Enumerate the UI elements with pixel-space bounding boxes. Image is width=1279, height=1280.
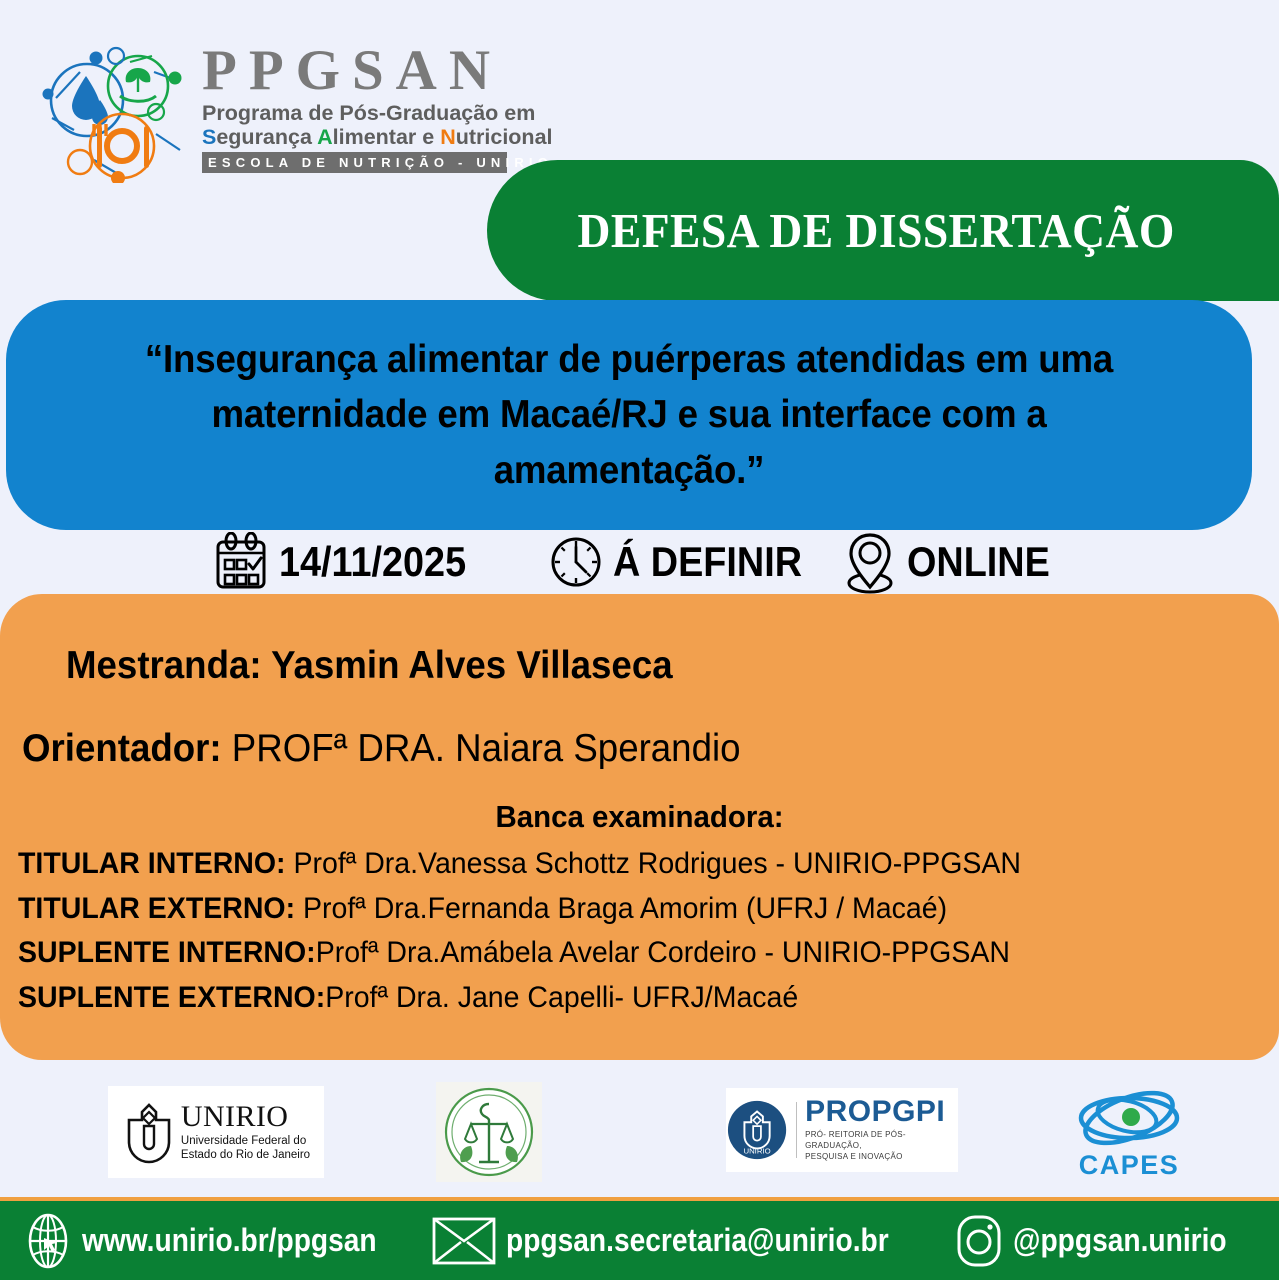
propgpi-logo-text: PROPGPI PRÓ- REITORIA DE PÓS-GRADUAÇÃO, … [805, 1097, 958, 1162]
clock-icon [549, 534, 603, 590]
propgpi-name: PROPGPI [805, 1097, 958, 1127]
logo-letter-s: S [202, 125, 216, 149]
unirio-subtitle-1: Universidade Federal do [181, 1135, 310, 1149]
unirio-name: UNIRIO [181, 1102, 310, 1132]
ppgsan-logo-graphic [34, 38, 194, 183]
event-place-text: ONLINE [907, 538, 1050, 586]
banca-name: Profª Dra.Amábela Avelar Cordeiro - UNIR… [316, 936, 1010, 969]
footer-instagram[interactable]: @ppgsan.unirio [954, 1213, 1256, 1269]
banca-role: TITULAR INTERNO: [18, 847, 286, 880]
mestranda-name: Yasmin Alves Villaseca [271, 644, 673, 687]
propgpi-logo: UNIRIO PROPGPI PRÓ- REITORIA DE PÓS-GRAD… [726, 1088, 958, 1172]
unirio-logo: UNIRIO Universidade Federal do Estado do… [108, 1086, 324, 1178]
banca-row: SUPLENTE EXTERNO:Profª Dra. Jane Capelli… [18, 976, 1196, 1021]
footer-instagram-text: @ppgsan.unirio [1013, 1222, 1227, 1259]
unirio-subtitle-2: Estado do Rio de Janeiro [181, 1149, 310, 1163]
orientador-label: Orientador: [22, 727, 222, 770]
ppgsan-subject-line: Segurança Alimentar e Nutricional [202, 125, 532, 149]
unirio-circle-crest-icon: UNIRIO [726, 1098, 788, 1162]
banca-row: TITULAR EXTERNO: Profª Dra.Fernanda Brag… [18, 887, 1196, 932]
banca-name: Profª Dra. Jane Capelli- UFRJ/Macaé [325, 981, 798, 1014]
ppgsan-acronym: PPGSAN [202, 44, 532, 98]
ppgsan-program-line: Programa de Pós-Graduação em [202, 101, 532, 125]
event-date-text: 14/11/2025 [279, 538, 466, 586]
logo-word-seguranca: egurança [216, 125, 317, 149]
location-pin-icon [843, 529, 897, 595]
escola-nutricao-logo [436, 1082, 542, 1182]
event-type-banner: DEFESA DE DISSERTAÇÃO [487, 160, 1279, 301]
partner-logos-strip: UNIRIO Universidade Federal do Estado do… [0, 1078, 1279, 1186]
propgpi-subtitle-2: PESQUISA E INOVAÇÃO [805, 1152, 958, 1163]
logo-letter-a: A [317, 125, 333, 149]
ppgsan-school-strip: ESCOLA DE NUTRIÇÃO - UNIRIO [202, 152, 507, 173]
event-date: 14/11/2025 [213, 532, 487, 592]
mestranda-label: Mestranda: [66, 644, 262, 687]
logo-word-alimentar: limentar e [333, 125, 441, 149]
propgpi-divider [796, 1102, 797, 1158]
footer-email-text: ppgsan.secretaria@unirio.br [506, 1222, 889, 1259]
unirio-logo-text: UNIRIO Universidade Federal do Estado do… [181, 1102, 310, 1163]
event-time: Á DEFINIR [549, 534, 823, 590]
ppgsan-logo-mark [34, 38, 194, 183]
event-type-title: DEFESA DE DISSERTAÇÃO [577, 202, 1174, 259]
unirio-crest-icon [122, 1100, 176, 1164]
mestranda-line: Mestranda: Yasmin Alves Villaseca [66, 644, 673, 688]
footer-website-text: www.unirio.br/ppgsan [82, 1222, 377, 1259]
envelope-icon [431, 1214, 497, 1268]
banca-row: TITULAR INTERNO: Profª Dra.Vanessa Schot… [18, 842, 1196, 887]
banca-row: SUPLENTE INTERNO:Profª Dra.Amábela Avela… [18, 931, 1196, 976]
thesis-title-text: “Insegurança alimentar de puérperas aten… [126, 332, 1132, 498]
capes-name: CAPES [1079, 1150, 1180, 1181]
event-place: ONLINE [843, 529, 1066, 595]
banca-heading: Banca examinadora: [32, 799, 1247, 835]
logo-letter-n: N [440, 125, 456, 149]
contact-footer: www.unirio.br/ppgsan ppgsan.secretaria@u… [0, 1197, 1279, 1280]
banca-role: TITULAR EXTERNO: [18, 892, 295, 925]
globe-icon [23, 1212, 73, 1270]
banca-name: Profª Dra.Fernanda Braga Amorim (UFRJ / … [295, 892, 947, 925]
thesis-title-panel: “Insegurança alimentar de puérperas aten… [6, 300, 1252, 530]
poster-canvas: PPGSAN Programa de Pós-Graduação em Segu… [0, 0, 1279, 1280]
orientador-name: PROFª DRA. Naiara Sperandio [232, 727, 741, 770]
banca-list: TITULAR INTERNO: Profª Dra.Vanessa Schot… [18, 842, 1258, 1021]
escola-nutricao-seal-icon [441, 1084, 537, 1180]
logo-word-nutricional: utricional [456, 125, 553, 149]
banca-name: Profª Dra.Vanessa Schottz Rodrigues - UN… [286, 847, 1021, 880]
event-time-text: Á DEFINIR [613, 538, 802, 586]
banca-role: SUPLENTE EXTERNO: [18, 981, 325, 1014]
calendar-icon [213, 532, 269, 592]
capes-logo: CAPES [1063, 1082, 1195, 1182]
orientador-line: Orientador: PROFª DRA. Naiara Sperandio [22, 727, 740, 771]
people-panel: Mestranda: Yasmin Alves Villaseca Orient… [0, 594, 1279, 1060]
propgpi-badge-text: UNIRIO [743, 1146, 770, 1155]
ppgsan-logo: PPGSAN Programa de Pós-Graduação em Segu… [34, 38, 534, 183]
event-details-row: 14/11/2025 Á DEFINIR [0, 530, 1279, 594]
instagram-icon [954, 1213, 1004, 1269]
ppgsan-logo-text: PPGSAN Programa de Pós-Graduação em Segu… [202, 44, 532, 173]
capes-orbit-icon [1069, 1084, 1189, 1150]
banca-role: SUPLENTE INTERNO: [18, 936, 316, 969]
footer-email[interactable]: ppgsan.secretaria@unirio.br [431, 1214, 941, 1268]
propgpi-subtitle-1: PRÓ- REITORIA DE PÓS-GRADUAÇÃO, [805, 1130, 958, 1152]
footer-website[interactable]: www.unirio.br/ppgsan [23, 1212, 417, 1270]
